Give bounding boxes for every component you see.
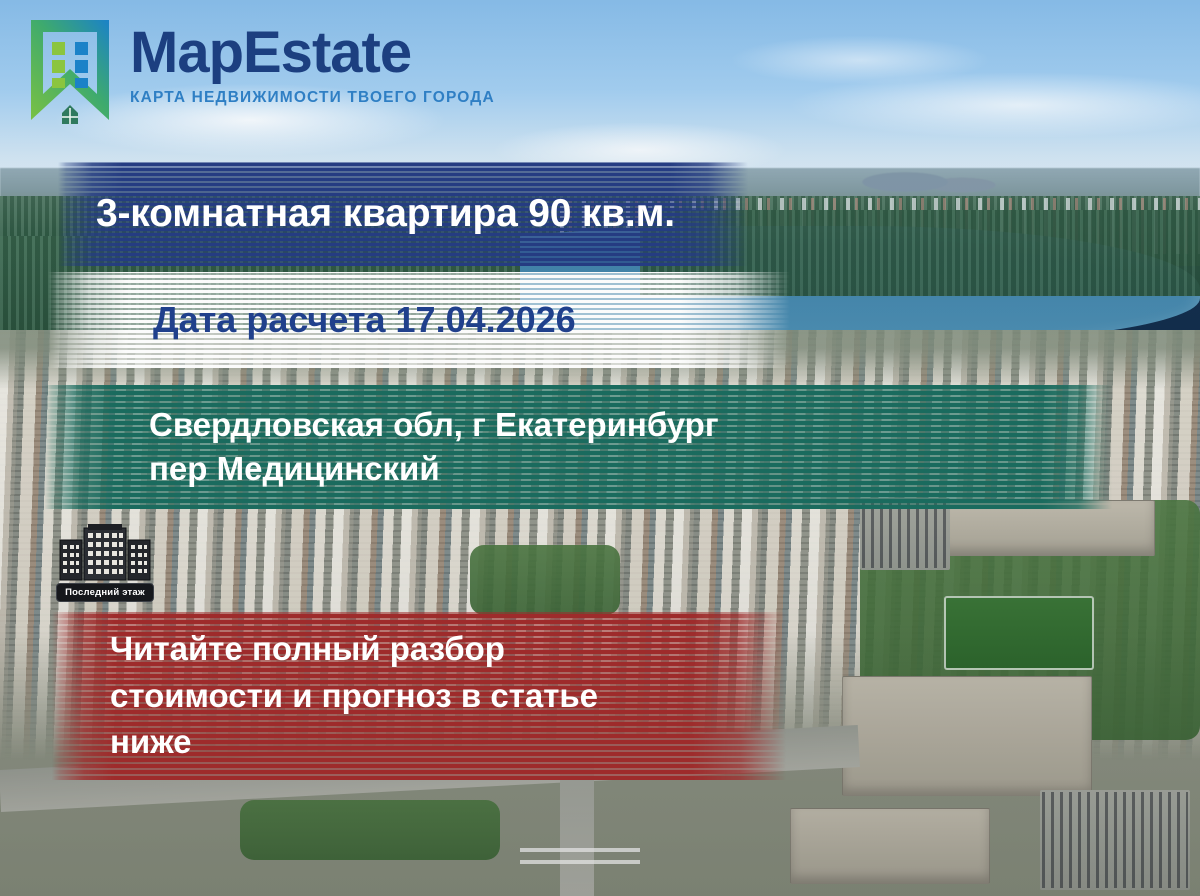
brand-wordmark: MapEstate КАРТА НЕДВИЖИМОСТИ ТВОЕГО ГОРО…	[130, 16, 495, 107]
road-marking-a	[520, 848, 640, 852]
address-text: Свердловская обл, г Екатеринбург пер Мед…	[149, 403, 719, 490]
address-band: Свердловская обл, г Екатеринбург пер Мед…	[44, 385, 1112, 509]
real-estate-promo-poster: MapEstate КАРТА НЕДВИЖИМОСТИ ТВОЕГО ГОРО…	[0, 0, 1200, 896]
brand-name: MapEstate	[130, 24, 495, 82]
sports-field	[944, 596, 1094, 670]
calculation-date-band: Дата расчета 17.04.2026	[48, 272, 790, 368]
shop-building	[790, 808, 990, 884]
lawn-bottom-left	[240, 800, 500, 860]
calculation-date: Дата расчета 17.04.2026	[153, 299, 576, 341]
cta-band[interactable]: Читайте полный разбор стоимости и прогно…	[52, 612, 786, 780]
listing-title-band: 3-комнатная квартира 90 кв.м.	[58, 162, 748, 266]
apartment-building-icon	[58, 524, 152, 582]
courtyard-green	[470, 545, 620, 615]
road-marking-b	[520, 860, 640, 864]
parking-lot-bottom	[1040, 790, 1190, 890]
school-building-south	[842, 676, 1092, 796]
building-map-marker[interactable]: Последний этаж	[40, 524, 170, 602]
bookmark-building-icon	[24, 16, 116, 124]
brand-tagline: КАРТА НЕДВИЖИМОСТИ ТВОЕГО ГОРОДА	[130, 89, 495, 107]
listing-title: 3-комнатная квартира 90 кв.м.	[96, 192, 675, 236]
marker-label: Последний этаж	[56, 583, 154, 602]
cta-text: Читайте полный разбор стоимости и прогно…	[110, 626, 598, 767]
brand-logo[interactable]: MapEstate КАРТА НЕДВИЖИМОСТИ ТВОЕГО ГОРО…	[24, 16, 495, 124]
